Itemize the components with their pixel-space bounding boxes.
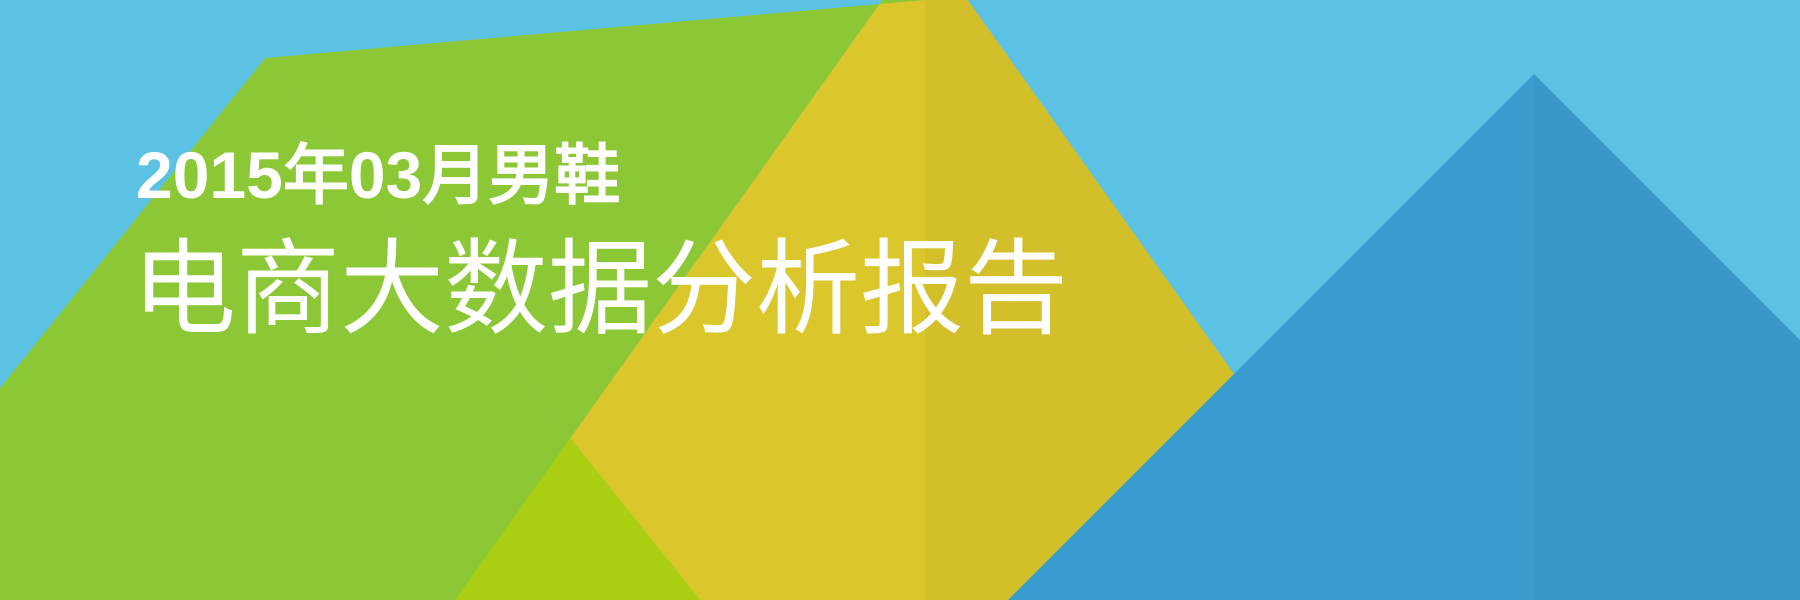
background-mountain-graphic: [0, 0, 1800, 600]
report-cover-banner: 2015年03月男鞋 电商大数据分析报告: [0, 0, 1800, 600]
